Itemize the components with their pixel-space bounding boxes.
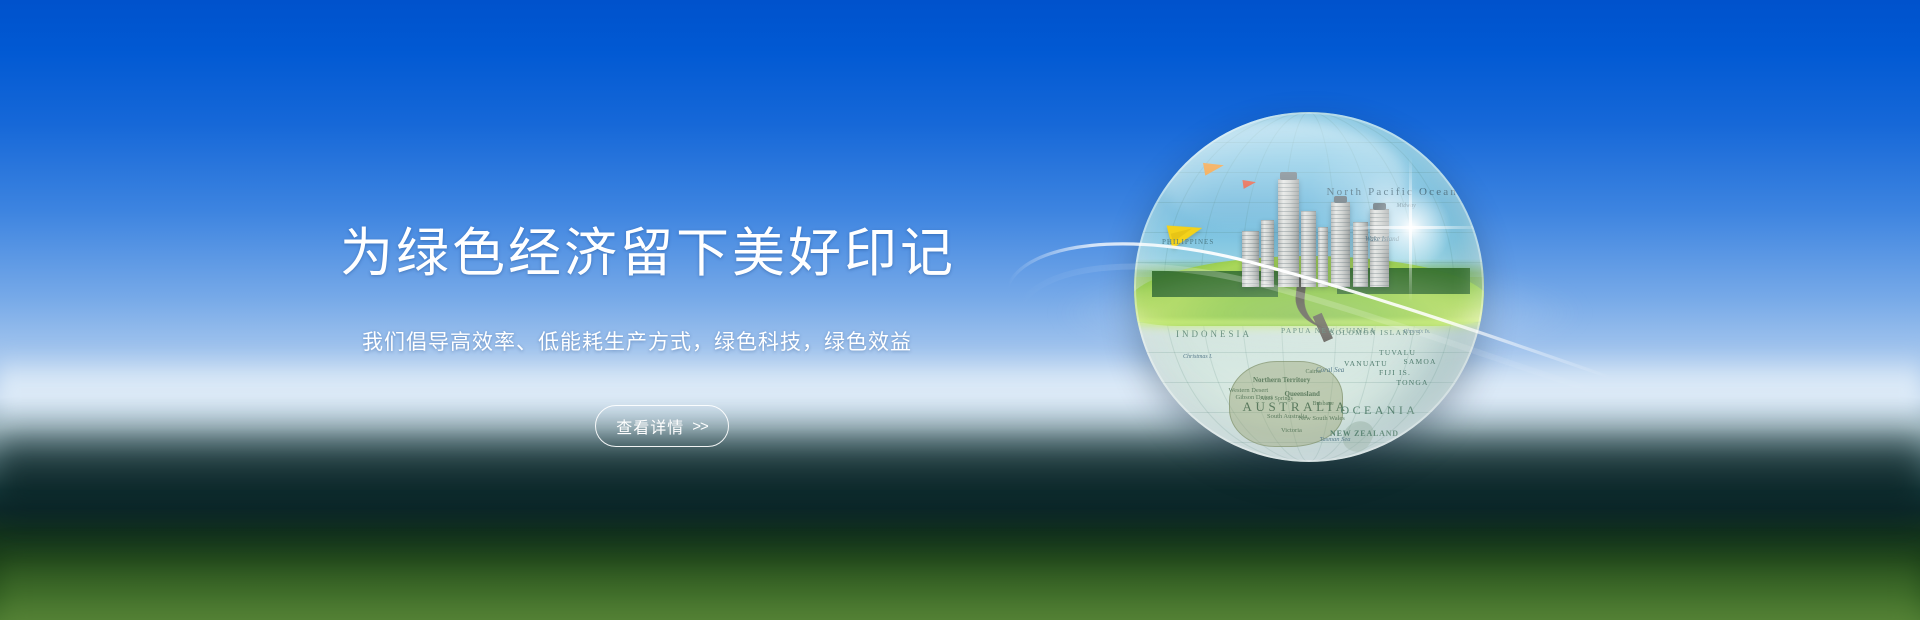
view-details-label: 查看详情 <box>616 414 684 438</box>
hero-text-block: 为绿色经济留下美好印记 我们倡导高效率、低能耗生产方式，绿色科技，绿色效益 查看… <box>0 0 1040 620</box>
building-cap <box>1373 203 1386 210</box>
chevron-right-icon: >> <box>692 418 708 435</box>
building-cap <box>1280 172 1297 180</box>
building <box>1301 211 1316 287</box>
building <box>1370 209 1388 287</box>
hero-banner: North Pacific Ocean Wake Island Midway P… <box>0 0 1920 620</box>
view-details-button[interactable]: 查看详情 >> <box>595 405 729 447</box>
building <box>1318 227 1328 287</box>
building <box>1331 202 1349 287</box>
building <box>1242 231 1259 287</box>
building-tallest <box>1278 179 1300 288</box>
australia-landmass <box>1229 361 1343 447</box>
page-subtitle: 我们倡导高效率、低能耗生产方式，绿色科技，绿色效益 <box>362 330 912 355</box>
page-title: 为绿色经济留下美好印记 <box>340 227 956 280</box>
globe-sphere: North Pacific Ocean Wake Island Midway P… <box>1134 112 1484 462</box>
building-cap <box>1334 196 1347 203</box>
building <box>1353 222 1368 287</box>
paper-plane-red-icon <box>1242 178 1256 189</box>
building <box>1261 220 1274 287</box>
globe-illustration: North Pacific Ocean Wake Island Midway P… <box>1134 112 1484 462</box>
city-skyline <box>1239 179 1407 288</box>
